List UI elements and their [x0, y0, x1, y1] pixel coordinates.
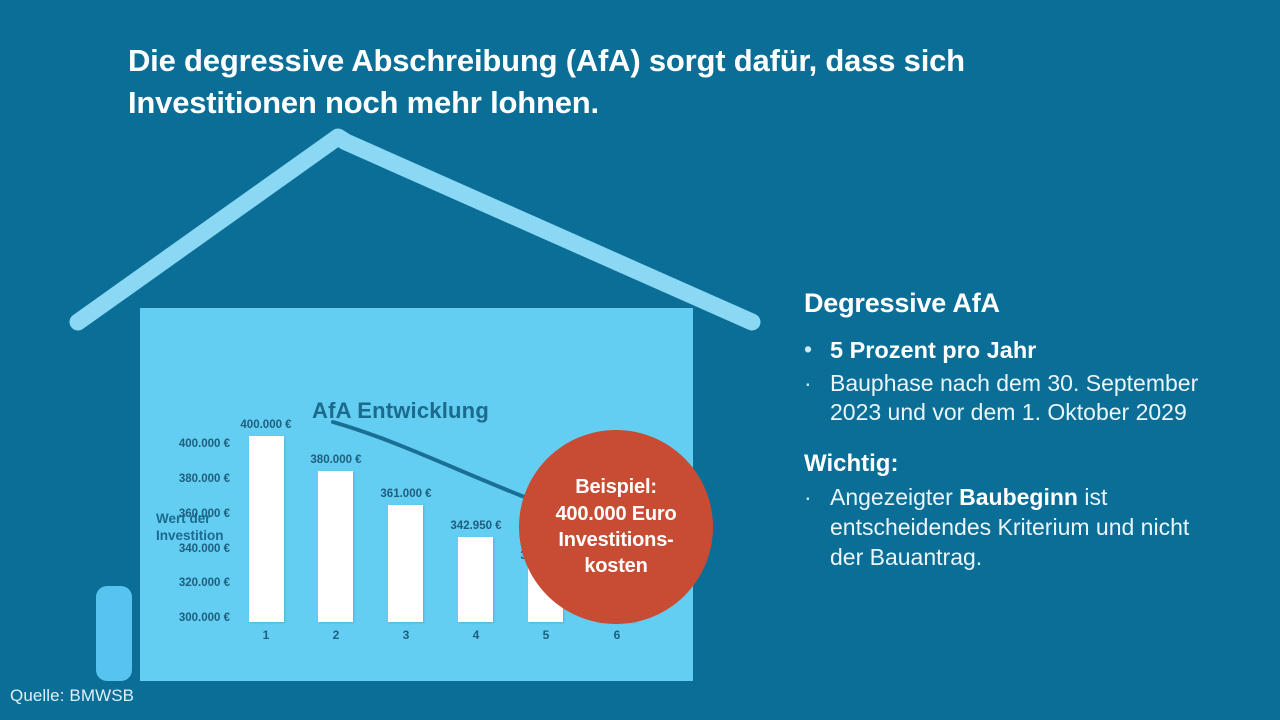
- x-axis-tick: 4: [473, 628, 480, 642]
- headline-line-2: Investitionen noch mehr lohnen.: [128, 82, 1058, 124]
- section-heading-wichtig: Wichtig:: [804, 450, 1224, 478]
- y-axis-tick: 340.000 €: [160, 543, 230, 555]
- house-illustration: AfA Entwicklung Wert der Investition 400…: [0, 120, 800, 700]
- y-axis-tick: 360.000 €: [160, 508, 230, 520]
- y-axis-tick: 380.000 €: [160, 473, 230, 485]
- bullet-text: Bauphase nach dem 30. September 2023 und…: [830, 369, 1224, 429]
- bubble-line-2: 400.000 Euro: [555, 501, 676, 527]
- y-axis-title-line-2: Investition: [156, 527, 224, 544]
- x-axis-tick: 6: [614, 628, 621, 642]
- page-title: Die degressive Abschreibung (AfA) sorgt …: [128, 40, 1058, 123]
- bar-value-label: 342.950 €: [450, 520, 501, 532]
- example-callout-bubble: Beispiel: 400.000 Euro Investitions- kos…: [519, 430, 713, 624]
- x-axis-tick: 3: [403, 628, 410, 642]
- source-credit: Quelle: BMWSB: [10, 686, 134, 706]
- bubble-line-1: Beispiel:: [575, 474, 657, 500]
- bullet-dot-icon: ·: [804, 483, 830, 512]
- y-axis-tick: 400.000 €: [160, 438, 230, 450]
- bullet-text: Angezeigter Baubeginn ist entscheidendes…: [830, 483, 1224, 573]
- chart-title: AfA Entwicklung: [312, 398, 489, 424]
- list-item: · Bauphase nach dem 30. September 2023 u…: [804, 369, 1224, 429]
- bubble-line-4: kosten: [584, 553, 647, 579]
- bullet-dot-icon: •: [804, 335, 830, 364]
- x-axis-tick: 5: [543, 628, 550, 642]
- bar-year-1: [249, 436, 284, 622]
- bar-value-label: 361.000 €: [380, 488, 431, 500]
- y-axis-tick: 320.000 €: [160, 577, 230, 589]
- bullet-text-emphasis: Baubeginn: [959, 484, 1078, 510]
- right-text-column: Degressive AfA • 5 Prozent pro Jahr · Ba…: [804, 288, 1224, 576]
- y-axis-tick: 300.000 €: [160, 612, 230, 624]
- bullet-dot-icon: ·: [804, 369, 830, 398]
- bullet-text: 5 Prozent pro Jahr: [830, 335, 1224, 366]
- bar-value-label: 380.000 €: [310, 454, 361, 466]
- bar-value-label: 400.000 €: [240, 419, 291, 431]
- list-item: • 5 Prozent pro Jahr: [804, 335, 1224, 366]
- bar-year-2: [318, 471, 353, 622]
- house-door: [96, 586, 132, 681]
- list-item: · Angezeigter Baubeginn ist entscheidend…: [804, 483, 1224, 573]
- bar-year-3: [388, 505, 423, 622]
- headline-line-1: Die degressive Abschreibung (AfA) sorgt …: [128, 40, 1058, 82]
- bubble-line-3: Investitions-: [558, 527, 673, 553]
- x-axis-tick: 1: [263, 628, 270, 642]
- bar-year-4: [458, 537, 493, 622]
- section-heading-degressive-afa: Degressive AfA: [804, 288, 1224, 319]
- x-axis-tick: 2: [333, 628, 340, 642]
- bullet-text-prefix: Angezeigter: [830, 484, 959, 510]
- infographic-slide: Die degressive Abschreibung (AfA) sorgt …: [0, 0, 1280, 720]
